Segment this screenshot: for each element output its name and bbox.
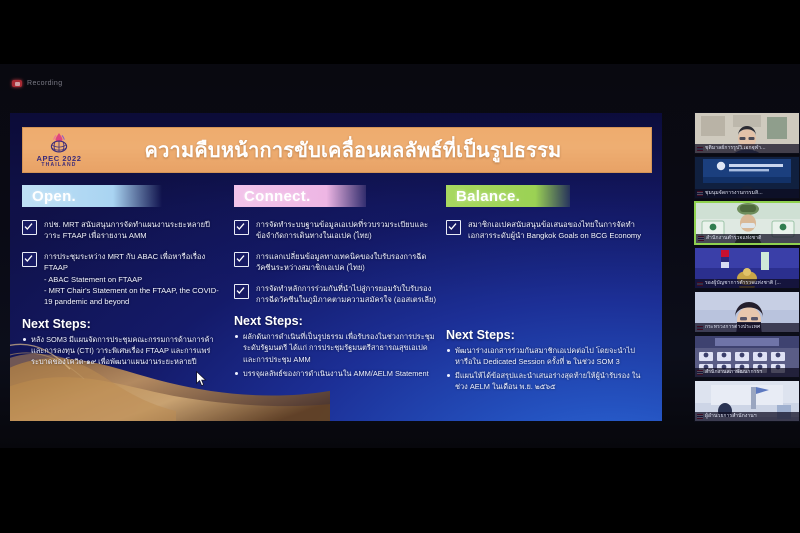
apec-logo-country: THAILAND [41, 163, 76, 168]
next-steps-title: Next Steps: [22, 317, 224, 331]
participant-name: ผู้อำนวยการสำนักงานฯ [695, 412, 799, 421]
participant-name: สำนักงานสภาพัฒนาการฯ [695, 368, 799, 377]
next-steps-list: หลัง SOM3 มีแผนจัดการประชุมคณะกรรมการด้า… [22, 334, 224, 367]
participant-name: ชุติมาลย์การรูปวิ.เอกจุฬา... [695, 144, 799, 153]
recording-label: Recording [27, 80, 63, 87]
monitor-photo: Recording [0, 0, 800, 533]
next-steps-open: Next Steps: หลัง SOM3 มีแผนจัดการประชุมค… [22, 317, 224, 367]
next-steps-connect: Next Steps: ผลักดันการดำเนินที่เป็นรูปธร… [234, 314, 436, 378]
next-steps-balance: Next Steps: พัฒนาร่างเอกสารร่วมกันสมาชิก… [446, 328, 648, 392]
participant-tile[interactable]: กระทรวงการต่างประเทศ [694, 291, 800, 333]
next-steps-item: บรรจุผลลัพธ์ของการดำเนินงานใน AMM/AELM S… [234, 368, 436, 379]
presentation-slide: APEC 2022 THAILAND ความคืบหน้าการขับเคลื… [10, 113, 662, 421]
participant-tile-active-speaker[interactable]: สำนักงานตำรวจแห่งชาติ [694, 201, 800, 245]
pillar-label-connect: Connect. [234, 185, 366, 207]
check-item: การแลกเปลี่ยนข้อมูลทางเทคนิคของใบรับรองก… [234, 251, 436, 274]
check-text: กปช. MRT สนับสนุนการจัดทำแผนงานระยะหลายป… [44, 219, 224, 242]
check-text-main: การประชุมระหว่าง MRT กับ ABAC เพื่อหารือ… [44, 252, 205, 272]
check-text: สมาชิกเอเปคสนับสนุนข้อเสนอของไทยในการจัด… [468, 219, 648, 242]
next-steps-item: ผลักดันการดำเนินที่เป็นรูปธรรม เพื่อรับร… [234, 331, 436, 364]
next-steps-item: มีแผนให้ได้ข้อสรุปและนำเสนอร่างสุดท้ายให… [446, 370, 648, 392]
participant-name: สำนักงานตำรวจแห่งชาติ [696, 234, 800, 243]
column-connect: Connect. การจัดทำระบบฐานข้อมูลเอเปคที่รว… [234, 185, 436, 409]
check-subitem: - MRT Chair's Statement on the FTAAP, th… [44, 285, 224, 308]
participant-tile[interactable]: รองผู้บัญชาการตำรวจแห่งชาติ (... [694, 247, 800, 289]
participant-tile[interactable]: ผู้อำนวยการสำนักงานฯ [694, 380, 800, 422]
column-balance: Balance. สมาชิกเอเปคสนับสนุนข้อเสนอของไท… [446, 185, 648, 409]
participant-name: รองผู้บัญชาการตำรวจแห่งชาติ (... [695, 279, 799, 288]
pillar-label-balance: Balance. [446, 185, 570, 207]
next-steps-list: พัฒนาร่างเอกสารร่วมกันสมาชิกเอเปคต่อไป โ… [446, 345, 648, 392]
check-text: การแลกเปลี่ยนข้อมูลทางเทคนิคของใบรับรองก… [256, 251, 436, 274]
participant-tile[interactable]: ชุมนุมจัดการงานกรรมสิ... [694, 156, 800, 198]
slide-title: ความคืบหน้าการขับเคลื่อนผลลัพธ์ที่เป็นรู… [95, 134, 651, 166]
pillar-columns: Open. กปช. MRT สนับสนุนการจัดทำแผนงานระย… [22, 185, 650, 409]
next-steps-list: ผลักดันการดำเนินที่เป็นรูปธรรม เพื่อรับร… [234, 331, 436, 378]
check-item: การจัดทำหลักการร่วมกันที่นำไปสู่การยอมรั… [234, 283, 436, 306]
checkbox-checked-icon [234, 252, 249, 267]
participant-name: ชุมนุมจัดการงานกรรมสิ... [695, 189, 799, 198]
column-open: Open. กปช. MRT สนับสนุนการจัดทำแผนงานระย… [22, 185, 224, 409]
check-text: การจัดทำระบบฐานข้อมูลเอเปคที่รวบรวมระเบี… [256, 219, 436, 242]
check-subitem: - ABAC Statement on FTAAP [44, 274, 224, 285]
checkbox-checked-icon [22, 252, 37, 267]
checkbox-checked-icon [234, 220, 249, 235]
check-text: การจัดทำหลักการร่วมกันที่นำไปสู่การยอมรั… [256, 283, 436, 306]
next-steps-item: พัฒนาร่างเอกสารร่วมกันสมาชิกเอเปคต่อไป โ… [446, 345, 648, 367]
slide-title-band: APEC 2022 THAILAND ความคืบหน้าการขับเคลื… [22, 127, 652, 173]
check-item: สมาชิกเอเปคสนับสนุนข้อเสนอของไทยในการจัด… [446, 219, 648, 242]
check-item: กปช. MRT สนับสนุนการจัดทำแผนงานระยะหลายป… [22, 219, 224, 242]
participant-name: กระทรวงการต่างประเทศ [695, 323, 799, 332]
apec-basket-flame-logo-icon [45, 132, 73, 154]
participant-tile[interactable]: สำนักงานสภาพัฒนาการฯ [694, 335, 800, 377]
next-steps-item: หลัง SOM3 มีแผนจัดการประชุมคณะกรรมการด้า… [22, 334, 224, 367]
pillar-label-open: Open. [22, 185, 162, 207]
check-item: การประชุมระหว่าง MRT กับ ABAC เพื่อหารือ… [22, 251, 224, 308]
check-text: การประชุมระหว่าง MRT กับ ABAC เพื่อหารือ… [44, 251, 224, 308]
next-steps-title: Next Steps: [446, 328, 648, 342]
checkbox-checked-icon [22, 220, 37, 235]
record-stop-icon[interactable] [12, 80, 22, 87]
checkbox-checked-icon [446, 220, 461, 235]
apec-logo: APEC 2022 THAILAND [23, 129, 95, 171]
apec-logo-name: APEC 2022 [36, 155, 81, 163]
participant-video-strip[interactable]: ชุติมาลย์การรูปวิ.เอกจุฬา... ชุมนุมจัดกา… [694, 112, 798, 422]
checkbox-checked-icon [234, 284, 249, 299]
next-steps-title: Next Steps: [234, 314, 436, 328]
mouse-cursor [196, 371, 207, 387]
check-item: การจัดทำระบบฐานข้อมูลเอเปคที่รวบรวมระเบี… [234, 219, 436, 242]
participant-tile[interactable]: ชุติมาลย์การรูปวิ.เอกจุฬา... [694, 112, 800, 154]
recording-indicator[interactable]: Recording [12, 80, 63, 87]
